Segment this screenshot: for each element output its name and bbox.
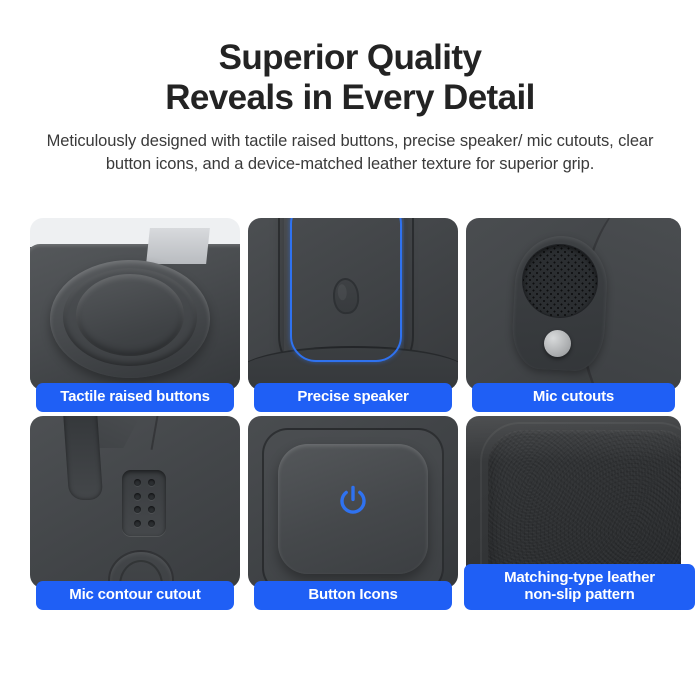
feature-card-mic-contour-cutout: Mic contour cutout [30,416,240,602]
feature-caption-precise-speaker: Precise speaker [254,383,452,412]
feature-caption-mic-contour-cutout: Mic contour cutout [36,581,234,610]
feature-caption-button-icons: Button Icons [254,581,452,610]
power-icon [336,484,370,518]
feature-image-mic-cutouts [466,218,681,390]
feature-grid: Tactile raised buttons Precise speaker M… [30,218,675,602]
feature-card-button-icons: Button Icons [248,416,458,602]
page-title: Superior Quality Reveals in Every Detail [0,38,700,118]
feature-card-mic-cutouts: Mic cutouts [466,218,681,404]
feature-image-precise-speaker [248,218,458,390]
product-feature-infographic: Superior Quality Reveals in Every Detail… [0,0,700,700]
feature-image-mic-contour-cutout [30,416,240,588]
title-line-1: Superior Quality [219,38,482,77]
device-seam-line [151,416,160,450]
feature-caption-mic-cutouts: Mic cutouts [472,383,675,412]
feature-image-tactile-raised-buttons [30,218,240,390]
feature-image-matching-leather [466,416,681,588]
mic-button-icon [544,330,571,357]
feature-image-button-icons [248,416,458,588]
button-ring-inner [76,274,184,356]
header: Superior Quality Reveals in Every Detail… [0,0,700,177]
feature-card-tactile-raised-buttons: Tactile raised buttons [30,218,240,404]
device-vertical-groove [63,416,103,500]
caption-line-1: Matching-type leather [504,569,655,586]
feature-card-matching-leather: Matching-type leather non-slip pattern [466,416,681,602]
device-flap-shape [146,228,210,264]
speaker-grille-mesh-icon [522,244,598,318]
surface-gloss-overlay [466,416,681,462]
feature-caption-tactile-raised-buttons: Tactile raised buttons [36,383,234,412]
title-line-2: Reveals in Every Detail [40,78,660,118]
page-subtitle: Meticulously designed with tactile raise… [30,130,670,177]
mic-dot-grid-icon [130,476,158,530]
caption-line-2: non-slip pattern [524,586,634,603]
feature-card-precise-speaker: Precise speaker [248,218,458,404]
feature-caption-matching-leather: Matching-type leather non-slip pattern [464,564,695,610]
